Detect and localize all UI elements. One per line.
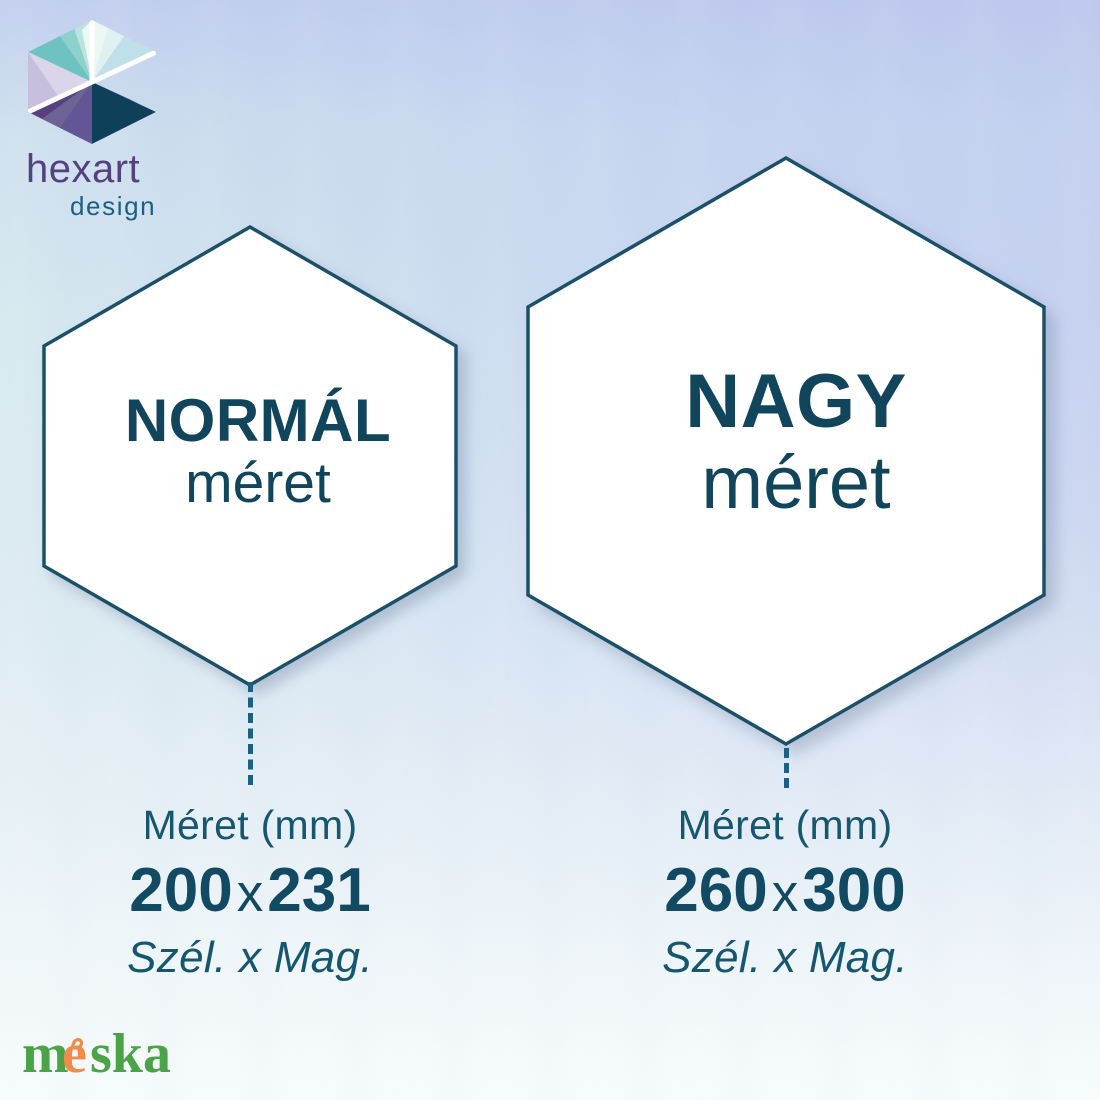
svg-text:ska: ska	[90, 1026, 171, 1084]
size-separator-nagy: x	[768, 864, 803, 923]
size-axes-normal: Szél. x Mag.	[50, 936, 450, 980]
size-value-nagy: 260x300	[585, 860, 985, 922]
size-block-nagy: Méret (mm) 260x300 Szél. x Mag.	[585, 805, 985, 980]
infographic-canvas: hexart design NORMÁL méret Méret (mm) 20…	[0, 0, 1100, 1100]
hexagon-card-nagy: NAGY méret	[516, 146, 1076, 756]
hexagon-card-normal: NORMÁL méret	[38, 215, 478, 695]
hexagon-shape-normal	[38, 215, 478, 695]
size-axes-nagy: Szél. x Mag.	[585, 936, 985, 980]
size-caption-normal: Méret (mm)	[50, 805, 450, 846]
brand-logo: hexart design	[22, 18, 207, 219]
connector-dashed-line-normal	[248, 682, 253, 785]
hexagon-shape-nagy	[516, 146, 1076, 756]
size-separator-normal: x	[233, 864, 268, 923]
size-width-normal: 200	[129, 856, 232, 925]
meska-logo: m e ska	[22, 1026, 187, 1084]
size-width-nagy: 260	[664, 856, 767, 925]
size-value-normal: 200x231	[50, 860, 450, 922]
size-height-normal: 231	[267, 856, 370, 925]
brand-name: hexart	[22, 149, 207, 189]
meska-wordmark-icon: m e ska	[22, 1026, 187, 1084]
hexagon-cube-logo-icon	[22, 18, 162, 146]
size-block-normal: Méret (mm) 200x231 Szél. x Mag.	[50, 805, 450, 980]
svg-text:e: e	[62, 1026, 87, 1084]
connector-dashed-line-nagy	[784, 748, 789, 788]
size-height-nagy: 300	[802, 856, 905, 925]
size-caption-nagy: Méret (mm)	[585, 805, 985, 846]
